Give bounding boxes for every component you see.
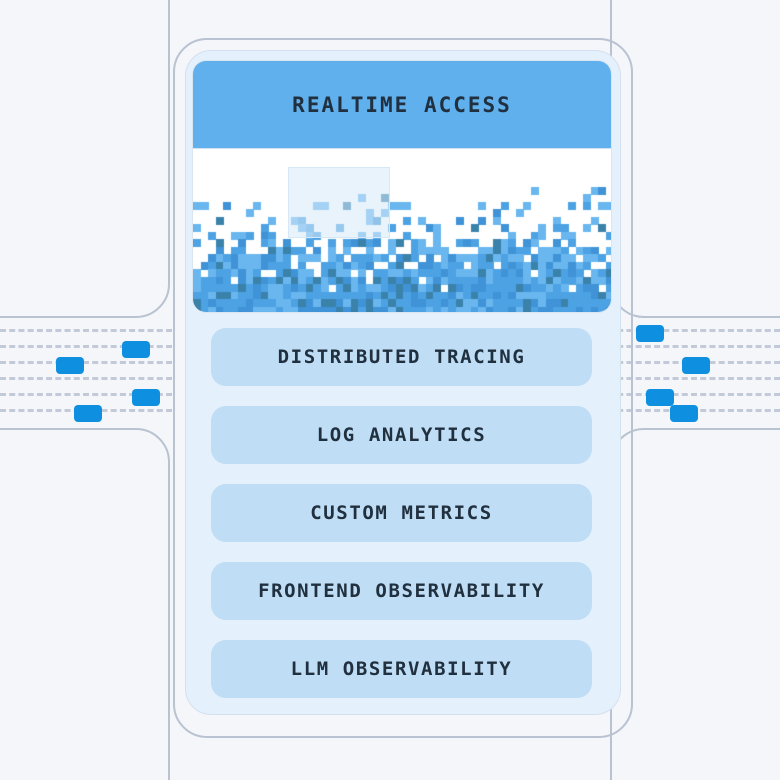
feature-pill-label: LLM OBSERVABILITY — [291, 658, 513, 680]
feature-pill-label: LOG ANALYTICS — [317, 424, 487, 446]
feature-pill[interactable]: LOG ANALYTICS — [211, 406, 592, 464]
connector-lanes-right — [608, 0, 780, 780]
feature-pill-label: FRONTEND OBSERVABILITY — [258, 580, 545, 602]
feature-pill[interactable]: FRONTEND OBSERVABILITY — [211, 562, 592, 620]
connector-line — [0, 329, 172, 332]
feature-pill-label: DISTRIBUTED TRACING — [278, 346, 526, 368]
feature-pill[interactable]: DISTRIBUTED TRACING — [211, 328, 592, 386]
connector-line — [608, 393, 780, 396]
feature-pill[interactable]: CUSTOM METRICS — [211, 484, 592, 542]
data-packet-marker — [646, 389, 674, 406]
connector-line — [608, 377, 780, 380]
data-packet-marker — [56, 357, 84, 374]
feature-pill[interactable]: LLM OBSERVABILITY — [211, 640, 592, 698]
connector-line — [0, 377, 172, 380]
data-packet-marker — [636, 325, 664, 342]
data-packet-marker — [670, 405, 698, 422]
feature-pill-label: CUSTOM METRICS — [310, 502, 493, 524]
card-header: REALTIME ACCESS — [193, 61, 611, 149]
data-packet-marker — [122, 341, 150, 358]
connector-lanes-left — [0, 0, 172, 780]
page-title: REALTIME ACCESS — [292, 93, 512, 117]
connector-line — [608, 345, 780, 348]
feature-pill-list: DISTRIBUTED TRACINGLOG ANALYTICSCUSTOM M… — [211, 328, 592, 718]
heatmap-canvas — [193, 149, 612, 313]
heatmap-chart — [193, 149, 611, 313]
data-packet-marker — [132, 389, 160, 406]
realtime-access-card: REALTIME ACCESS — [192, 60, 612, 313]
data-packet-marker — [74, 405, 102, 422]
connector-line — [0, 361, 172, 364]
connector-line — [608, 329, 780, 332]
diagram-canvas: REALTIME ACCESS DISTRIBUTED TRACINGLOG A… — [0, 0, 780, 780]
data-packet-marker — [682, 357, 710, 374]
